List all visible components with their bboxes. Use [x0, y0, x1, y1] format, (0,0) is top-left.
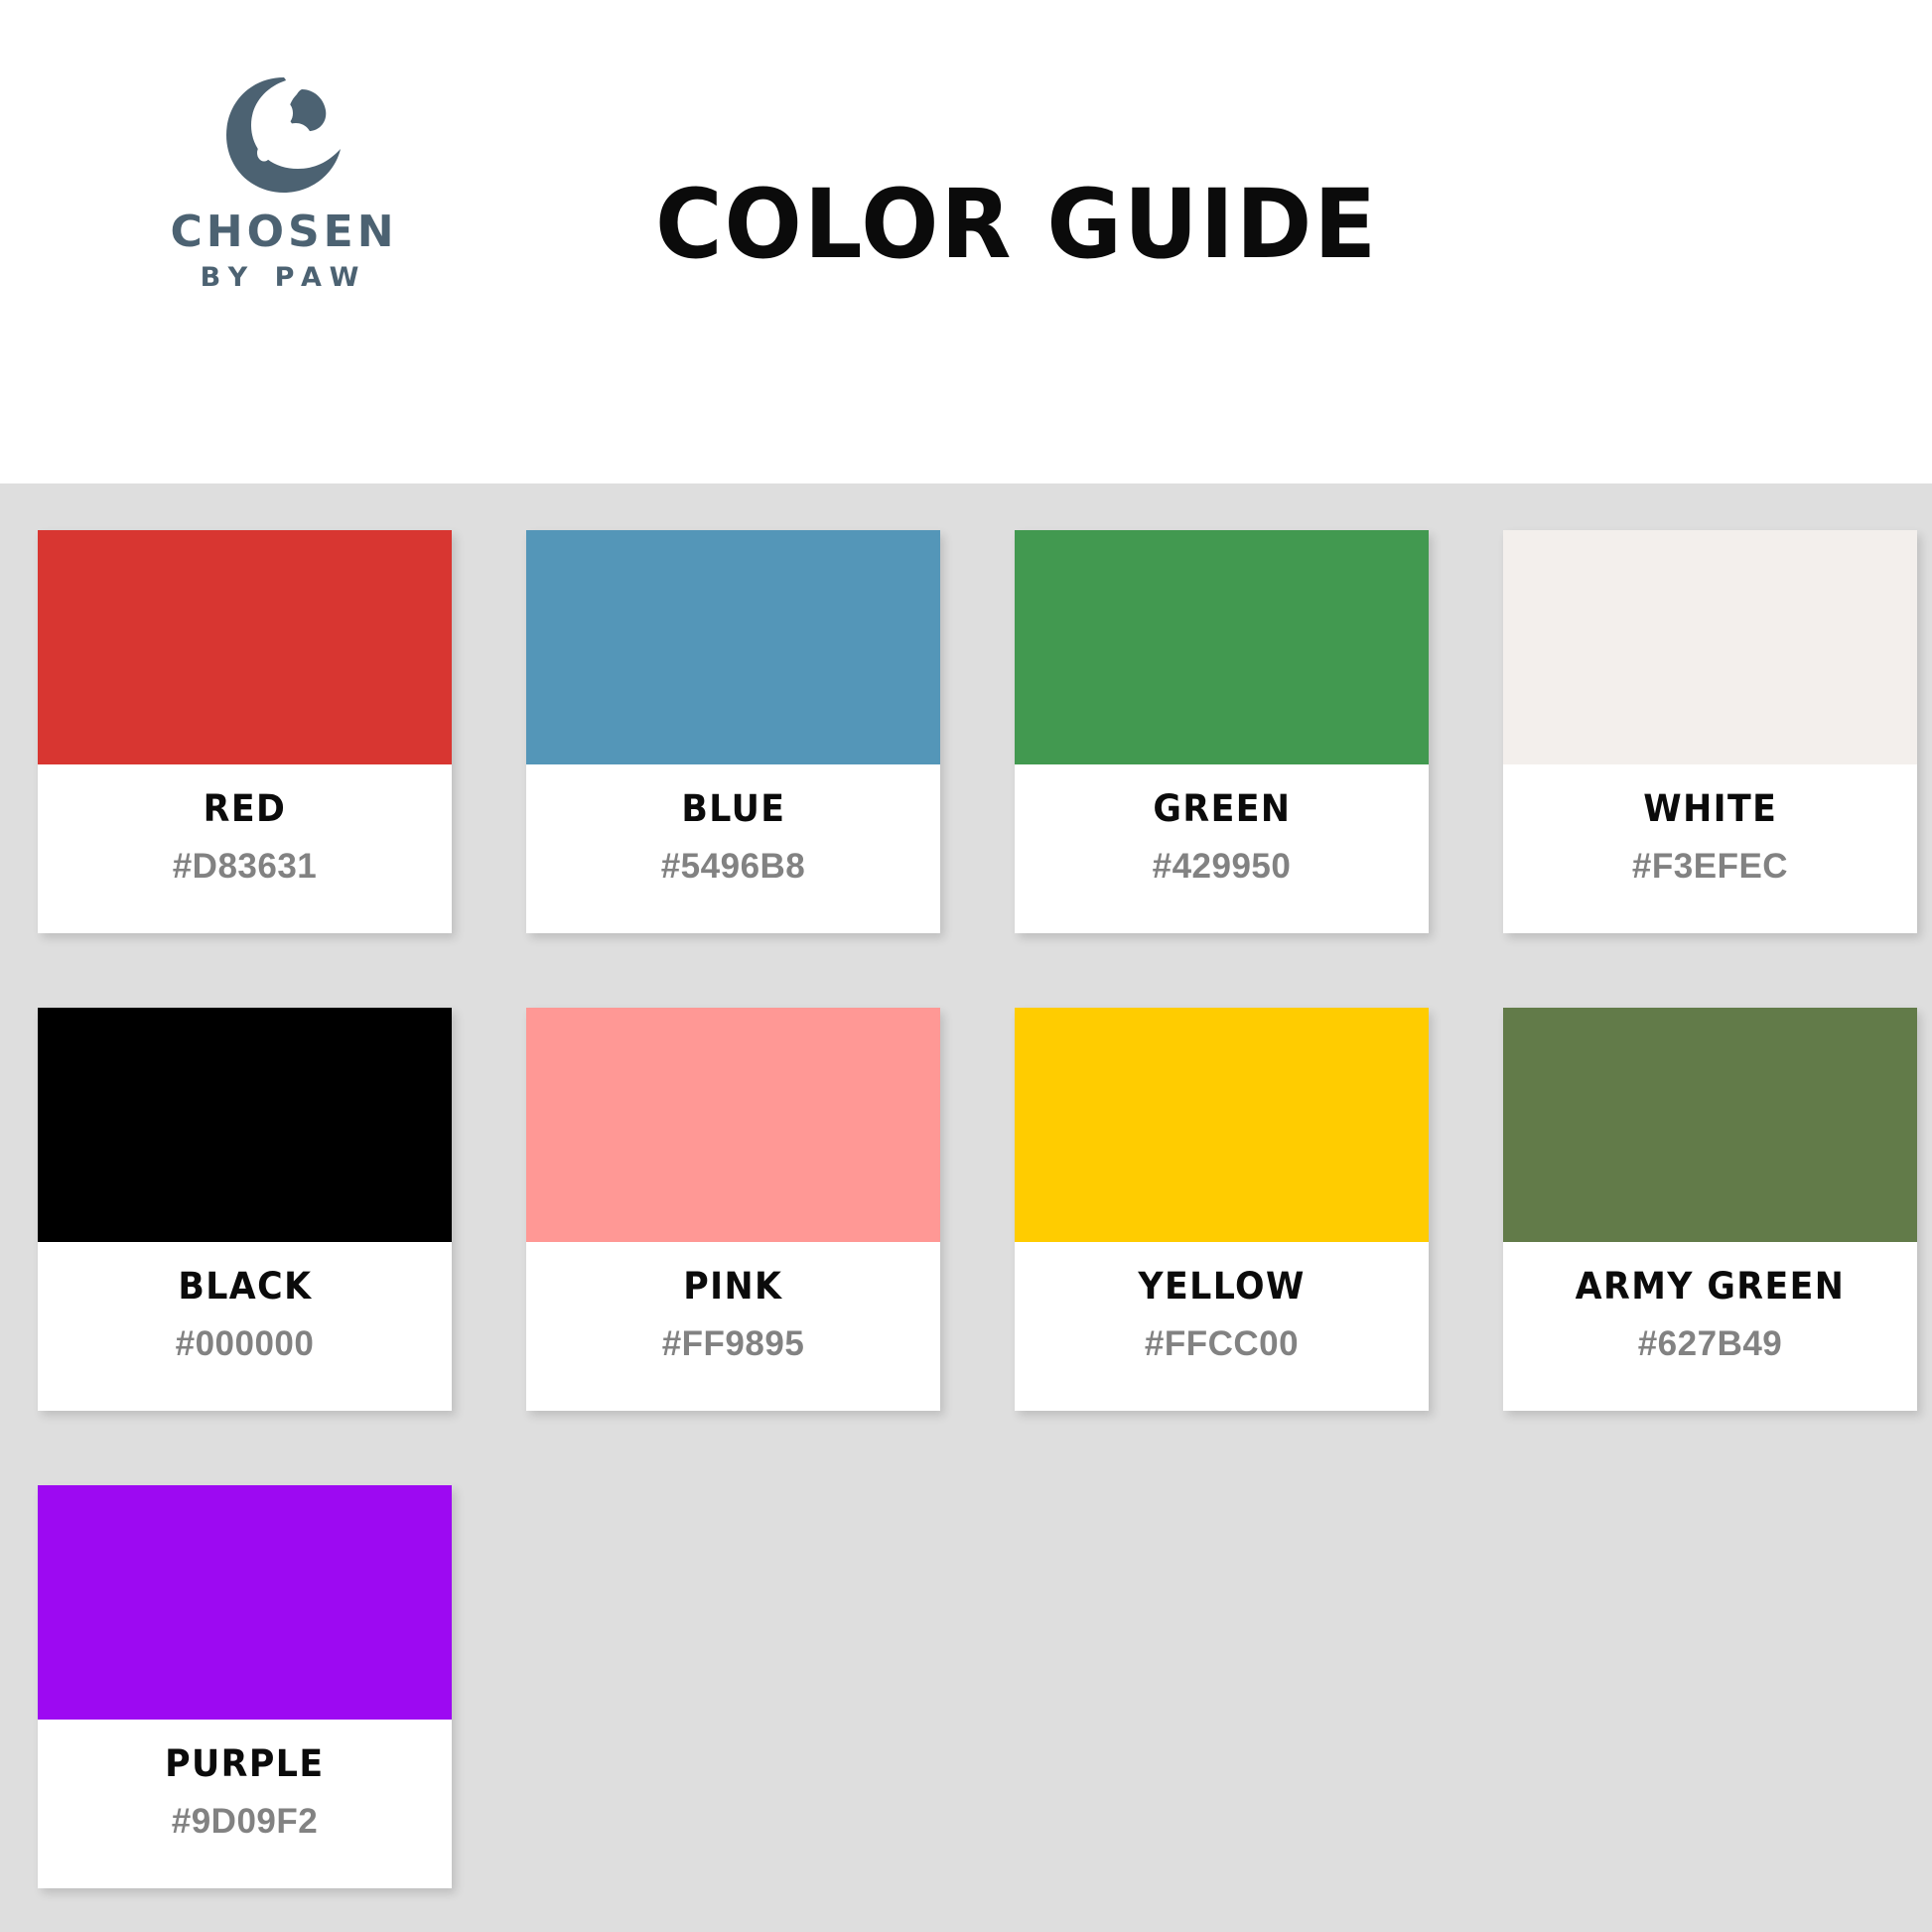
swatch-name: GREEN [1153, 790, 1291, 827]
swatch-hex: #FFCC00 [1145, 1326, 1299, 1361]
swatch-hex: #F3EFEC [1632, 849, 1788, 884]
swatch-info: BLACK #000000 [38, 1242, 452, 1411]
swatch-hex: #000000 [176, 1326, 315, 1361]
swatch-card-white[interactable]: WHITE #F3EFEC [1503, 530, 1917, 933]
swatch-color-block [1015, 1008, 1429, 1242]
swatch-info: YELLOW #FFCC00 [1015, 1242, 1429, 1411]
swatch-info: WHITE #F3EFEC [1503, 764, 1917, 933]
page-header: CHOSEN BY PAW COLOR GUIDE [0, 0, 1932, 483]
page-title: COLOR GUIDE [655, 177, 1378, 272]
swatch-card-blue[interactable]: BLUE #5496B8 [526, 530, 940, 933]
swatch-area: RED #D83631 BLUE #5496B8 GREEN #429950 [0, 483, 1932, 1932]
swatch-name: PINK [683, 1268, 782, 1305]
swatch-hex: #5496B8 [661, 849, 806, 884]
swatch-info: GREEN #429950 [1015, 764, 1429, 933]
swatch-hex: #D83631 [173, 849, 318, 884]
swatch-hex: #FF9895 [662, 1326, 805, 1361]
swatch-grid: RED #D83631 BLUE #5496B8 GREEN #429950 [0, 530, 1932, 1888]
paw-in-crescent-icon [218, 75, 349, 197]
swatch-info: PINK #FF9895 [526, 1242, 940, 1411]
swatch-color-block [1503, 1008, 1917, 1242]
swatch-card-green[interactable]: GREEN #429950 [1015, 530, 1429, 933]
swatch-card-purple[interactable]: PURPLE #9D09F2 [38, 1485, 452, 1888]
brand-tagline: BY PAW [201, 264, 368, 291]
swatch-card-red[interactable]: RED #D83631 [38, 530, 452, 933]
color-guide-page: CHOSEN BY PAW COLOR GUIDE RED #D83631 BL… [0, 0, 1932, 1932]
swatch-color-block [526, 530, 940, 764]
swatch-name: YELLOW [1138, 1268, 1305, 1305]
swatch-card-army-green[interactable]: ARMY GREEN #627B49 [1503, 1008, 1917, 1411]
swatch-info: ARMY GREEN #627B49 [1503, 1242, 1917, 1411]
swatch-color-block [1015, 530, 1429, 764]
swatch-name: PURPLE [165, 1745, 324, 1782]
swatch-color-block [1503, 530, 1917, 764]
swatch-info: BLUE #5496B8 [526, 764, 940, 933]
swatch-color-block [38, 1485, 452, 1720]
swatch-info: RED #D83631 [38, 764, 452, 933]
brand-name: CHOSEN [170, 210, 397, 254]
swatch-name: ARMY GREEN [1576, 1268, 1846, 1305]
swatch-name: WHITE [1643, 790, 1777, 827]
swatch-hex: #627B49 [1638, 1326, 1783, 1361]
swatch-color-block [38, 530, 452, 764]
swatch-info: PURPLE #9D09F2 [38, 1720, 452, 1888]
swatch-card-yellow[interactable]: YELLOW #FFCC00 [1015, 1008, 1429, 1411]
swatch-hex: #9D09F2 [172, 1804, 318, 1839]
swatch-color-block [38, 1008, 452, 1242]
swatch-card-pink[interactable]: PINK #FF9895 [526, 1008, 940, 1411]
swatch-card-black[interactable]: BLACK #000000 [38, 1008, 452, 1411]
swatch-color-block [526, 1008, 940, 1242]
brand-logo: CHOSEN BY PAW [135, 75, 433, 291]
swatch-name: BLUE [681, 790, 785, 827]
swatch-name: BLACK [178, 1268, 312, 1305]
swatch-name: RED [204, 790, 287, 827]
swatch-hex: #429950 [1153, 849, 1292, 884]
